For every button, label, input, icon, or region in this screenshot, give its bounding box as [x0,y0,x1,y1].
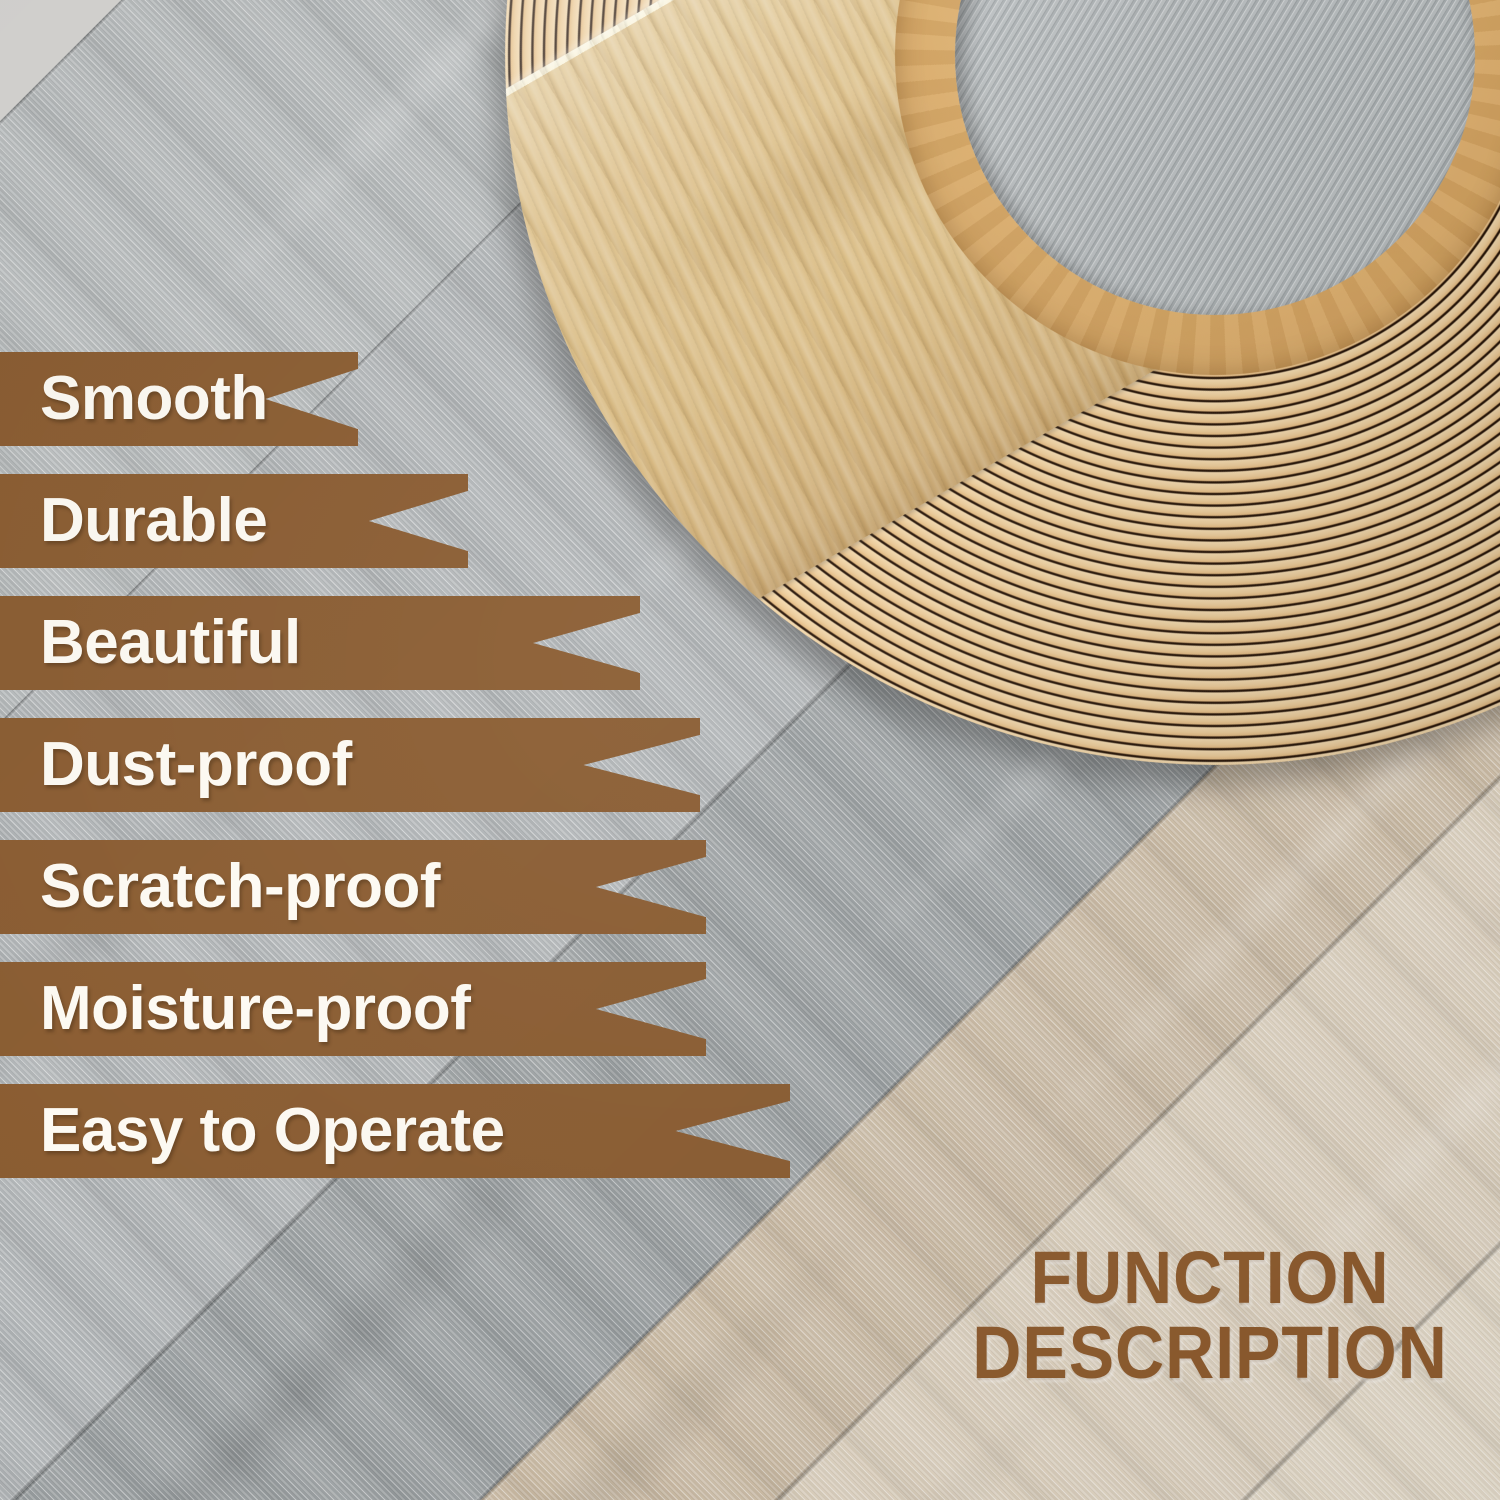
feature-label: Smooth [0,368,268,430]
feature-ribbon-dust-proof[interactable]: Dust-proof [0,718,700,812]
feature-ribbon-moisture-proof[interactable]: Moisture-proof [0,962,706,1056]
function-description-line-1: FUNCTION [952,1240,1467,1315]
feature-label: Moisture-proof [0,978,470,1040]
feature-ribbon-durable[interactable]: Durable [0,474,468,568]
feature-label: Durable [0,490,267,552]
feature-ribbon-easy-to-operate[interactable]: Easy to Operate [0,1084,790,1178]
feature-label: Beautiful [0,612,301,674]
product-infographic: Smooth Durable Beautiful Dust-proof Scra… [0,0,1500,1500]
function-description-line-2: DESCRIPTION [952,1315,1467,1390]
feature-list: Smooth Durable Beautiful Dust-proof Scra… [0,352,900,1206]
feature-label: Scratch-proof [0,856,440,918]
feature-ribbon-beautiful[interactable]: Beautiful [0,596,640,690]
feature-ribbon-scratch-proof[interactable]: Scratch-proof [0,840,706,934]
feature-label: Easy to Operate [0,1100,505,1162]
feature-ribbon-smooth[interactable]: Smooth [0,352,358,446]
function-description-heading: FUNCTION DESCRIPTION [930,1240,1490,1391]
feature-label: Dust-proof [0,734,352,796]
